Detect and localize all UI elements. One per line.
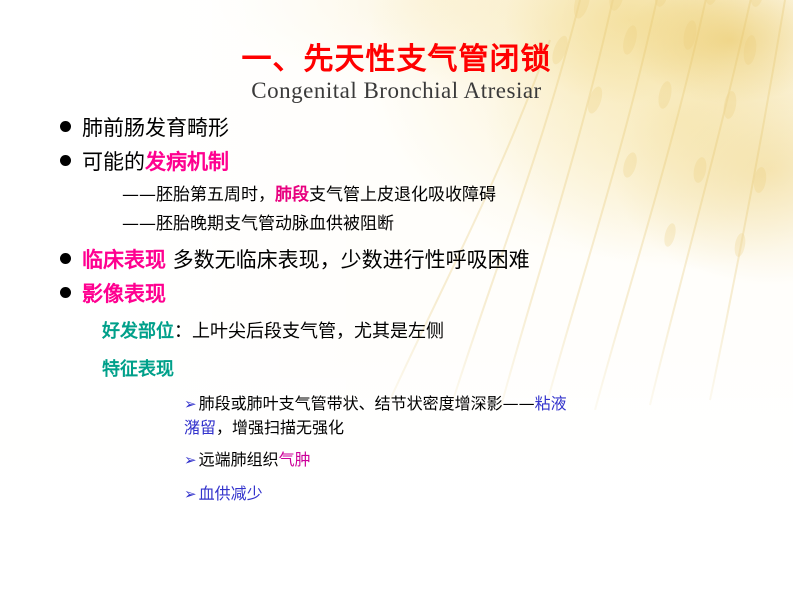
list-item-text: 血供减少 [199,482,263,506]
text-segment: ——胚胎第五周时， [122,185,275,205]
text-segment-highlight: 血供减少 [199,484,263,503]
text-segment-highlight: 潴留 [184,418,216,437]
text-segment: 远端肺组织 [199,450,279,469]
bullet-circle-icon [60,121,71,132]
slide-body: 肺前肠发育畸形 可能的发病机制 ——胚胎第五周时，肺段支气管上皮退化吸收障碍 —… [60,114,760,506]
list-item-arrow: ➢ 远端肺组织气肿 [184,448,760,472]
text-segment: 肺段或肺叶支气管带状、结节状密度增深影—— [199,394,535,413]
list-item-text: 特征表现 [102,356,174,384]
text-segment: ：上叶尖后段支气管，尤其是左侧 [174,321,444,342]
list-item: 肺前肠发育畸形 [60,114,760,142]
list-item-text: 临床表现 多数无临床表现，少数进行性呼吸困难 [82,246,530,274]
list-item: 临床表现 多数无临床表现，少数进行性呼吸困难 [60,246,760,274]
text-segment-highlight: 特征表现 [102,359,174,380]
list-item: 可能的发病机制 [60,148,760,176]
text-segment-highlight: 气肿 [279,450,311,469]
list-item-text: 影像表现 [82,280,166,308]
arrow-bullet-icon: ➢ [184,392,197,416]
bullet-circle-icon [60,155,71,166]
list-item-sub: ——胚胎晚期支气管动脉血供被阻断 [122,211,760,237]
list-item-text: ——胚胎晚期支气管动脉血供被阻断 [122,211,394,237]
list-item-text: 可能的发病机制 [82,148,229,176]
list-item-text: 肺段或肺叶支气管带状、结节状密度增深影——粘液 [199,392,567,416]
slide: 一、先天性支气管闭锁 Congenital Bronchial Atresiar… [0,0,793,595]
list-item-subhead: 好发部位：上叶尖后段支气管，尤其是左侧 [102,318,760,346]
slide-title-english: Congenital Bronchial Atresiar [0,78,793,104]
bullet-circle-icon [60,253,71,264]
arrow-bullet-icon: ➢ [184,448,197,472]
list-item-text: 潴留，增强扫描无强化 [184,416,344,440]
text-segment-highlight: 影像表现 [82,282,166,306]
text-segment-highlight: 临床表现 [82,248,166,272]
text-segment-highlight: 发病机制 [145,150,229,174]
text-segment-highlight: 肺段 [275,185,309,205]
list-item: 影像表现 [60,280,760,308]
text-segment: ，增强扫描无强化 [216,418,344,437]
list-item-text: 好发部位：上叶尖后段支气管，尤其是左侧 [102,318,444,346]
arrow-bullet-icon: ➢ [184,482,197,506]
list-item-arrow: ➢ 肺段或肺叶支气管带状、结节状密度增深影——粘液 [184,392,760,416]
slide-content: 一、先天性支气管闭锁 Congenital Bronchial Atresiar… [0,0,793,595]
text-segment-highlight: 好发部位 [102,321,174,342]
text-segment: 多数无临床表现，少数进行性呼吸困难 [166,248,530,272]
list-item-text: 远端肺组织气肿 [199,448,311,472]
text-segment: 肺前肠发育畸形 [82,116,229,140]
text-segment: ——胚胎晚期支气管动脉血供被阻断 [122,214,394,234]
list-item-arrow-continued: 潴留，增强扫描无强化 [184,416,760,440]
text-segment: 支气管上皮退化吸收障碍 [309,185,496,205]
list-item-sub: ——胚胎第五周时，肺段支气管上皮退化吸收障碍 [122,182,760,208]
bullet-circle-icon [60,287,71,298]
text-segment-highlight: 粘液 [535,394,567,413]
list-item-arrow: ➢ 血供减少 [184,482,760,506]
text-segment: 可能的 [82,150,145,174]
list-item-text: 肺前肠发育畸形 [82,114,229,142]
list-item-subhead: 特征表现 [102,356,760,384]
slide-title-chinese: 一、先天性支气管闭锁 [0,34,793,78]
list-item-text: ——胚胎第五周时，肺段支气管上皮退化吸收障碍 [122,182,496,208]
